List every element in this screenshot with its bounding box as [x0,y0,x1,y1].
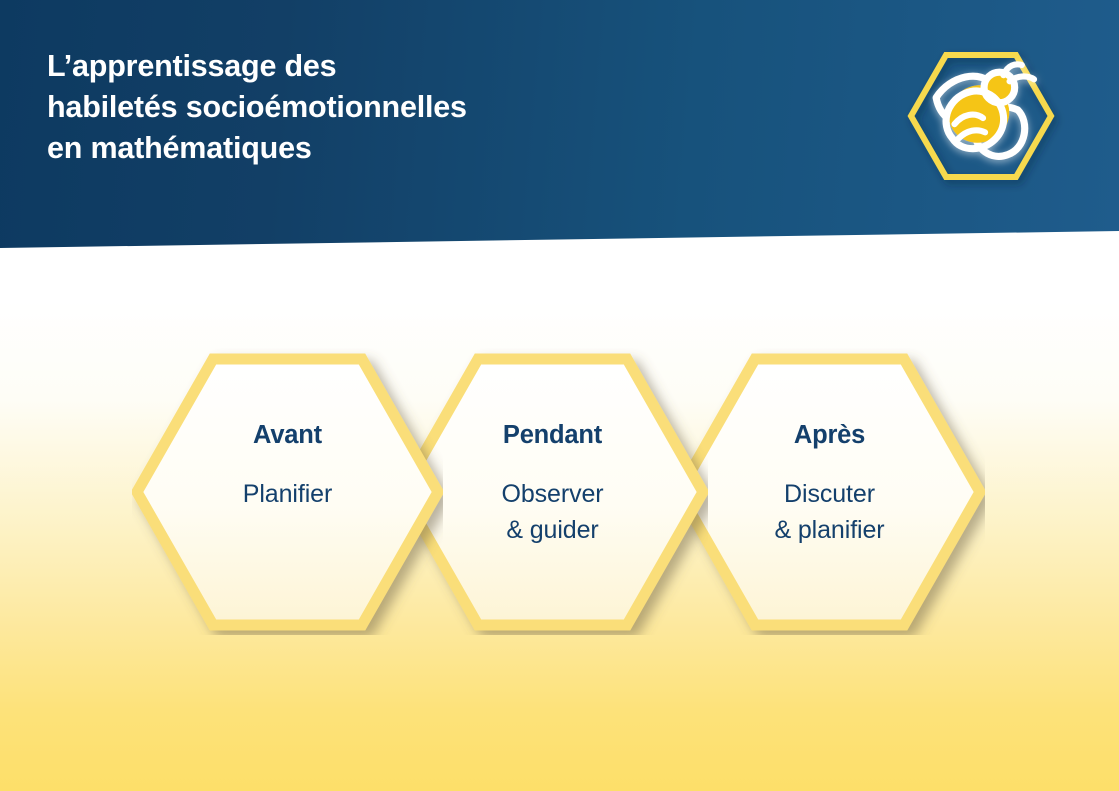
hexagon-outline [137,359,438,625]
hexagon-step-avant[interactable]: Avant Planifier [132,348,443,635]
hexagon-outline [402,359,703,625]
hexagon-step-pendant[interactable]: Pendant Observer & guider [397,348,708,635]
hexagon-outline [679,359,980,625]
hexagon-step-apres[interactable]: Après Discuter & planifier [674,348,985,635]
process-hexagon-row: Avant Planifier [0,340,1119,640]
slide-canvas: L’apprentissage des habiletés socioémoti… [0,0,1119,791]
page-title: L’apprentissage des habiletés socioémoti… [47,46,667,169]
bee-icon [936,64,1034,156]
bee-hexagon-logo [898,22,1078,210]
